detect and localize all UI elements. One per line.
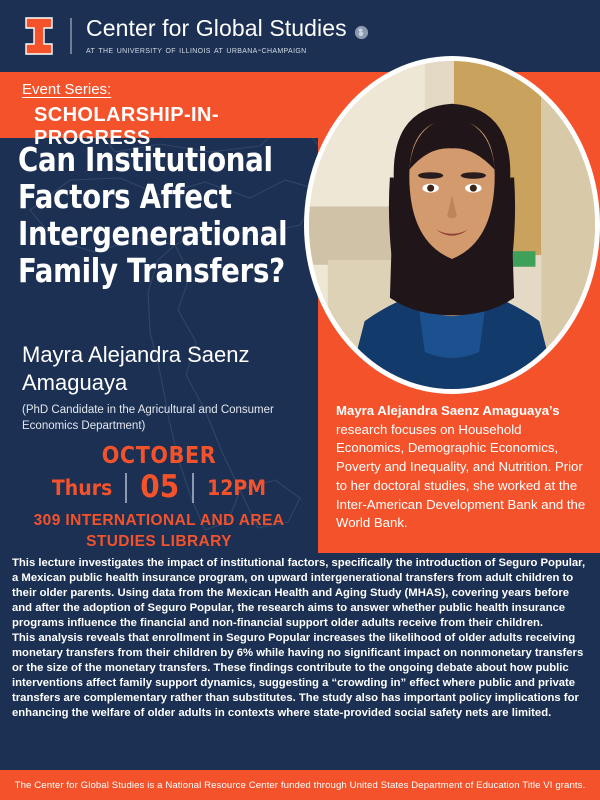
bio-speaker-name: Mayra Alejandra Saenz Amaguaya’s bbox=[336, 403, 560, 418]
event-series-kicker: Event Series: bbox=[22, 81, 332, 98]
speaker-portrait bbox=[304, 56, 600, 394]
abstract-section: This lecture investigates the impact of … bbox=[0, 556, 600, 721]
title-line-3: Intergenerational bbox=[18, 216, 306, 253]
logo-divider bbox=[70, 18, 72, 54]
event-day-of-week: Thurs bbox=[52, 476, 112, 500]
speaker-block: Mayra Alejandra Saenz Amaguaya (PhD Cand… bbox=[22, 341, 322, 435]
event-details: OCTOBER Thurs 05 12PM 309 INTERNATIONAL … bbox=[0, 443, 318, 553]
event-venue-line-1: 309 INTERNATIONAL AND AREA bbox=[18, 511, 300, 532]
event-day: 05 bbox=[140, 472, 179, 503]
bio-body: research focuses on Household Economics,… bbox=[336, 422, 585, 531]
event-time: 12PM bbox=[207, 476, 266, 500]
event-venue: 309 INTERNATIONAL AND AREA STUDIES LIBRA… bbox=[0, 511, 318, 553]
event-poster: Center for Global Studies At the Univers… bbox=[0, 0, 600, 800]
brand-subtitle: At the University of Illinois at Urbana-… bbox=[86, 45, 369, 56]
date-divider-1 bbox=[125, 473, 127, 503]
speaker-photo bbox=[309, 61, 595, 389]
speaker-affiliation: (PhD Candidate in the Agricultural and C… bbox=[22, 402, 322, 435]
event-month: OCTOBER bbox=[0, 443, 318, 469]
event-series-banner: Event Series: SCHOLARSHIP-IN-PROGRESS bbox=[0, 72, 332, 138]
abstract-paragraph-2: This analysis reveals that enrollment in… bbox=[12, 631, 588, 721]
illinois-block-i-logo bbox=[24, 17, 54, 55]
speaker-name-line-2: Amaguaya bbox=[22, 369, 322, 397]
globe-icon bbox=[354, 21, 369, 36]
lecture-title: Can Institutional Factors Affect Interge… bbox=[18, 142, 328, 290]
abstract-paragraph-1: This lecture investigates the impact of … bbox=[12, 556, 588, 631]
title-line-1: Can Institutional bbox=[18, 142, 306, 179]
title-line-4: Family Transfers? bbox=[18, 253, 306, 290]
portrait-ring bbox=[304, 56, 600, 394]
speaker-name-line-1: Mayra Alejandra Saenz bbox=[22, 341, 322, 369]
date-divider-2 bbox=[192, 473, 194, 503]
brand-title-row: Center for Global Studies bbox=[86, 17, 369, 40]
title-line-2: Factors Affect bbox=[18, 179, 306, 216]
event-date-row: Thurs 05 12PM bbox=[0, 472, 318, 503]
footer-funding-text: The Center for Global Studies is a Natio… bbox=[15, 780, 586, 791]
bio-text: Mayra Alejandra Saenz Amaguaya’s researc… bbox=[336, 402, 588, 533]
brand-lockup: Center for Global Studies At the Univers… bbox=[86, 17, 369, 56]
event-venue-line-2: STUDIES LIBRARY bbox=[18, 532, 300, 553]
brand-title: Center for Global Studies bbox=[86, 17, 347, 40]
poster-footer: The Center for Global Studies is a Natio… bbox=[0, 770, 600, 800]
